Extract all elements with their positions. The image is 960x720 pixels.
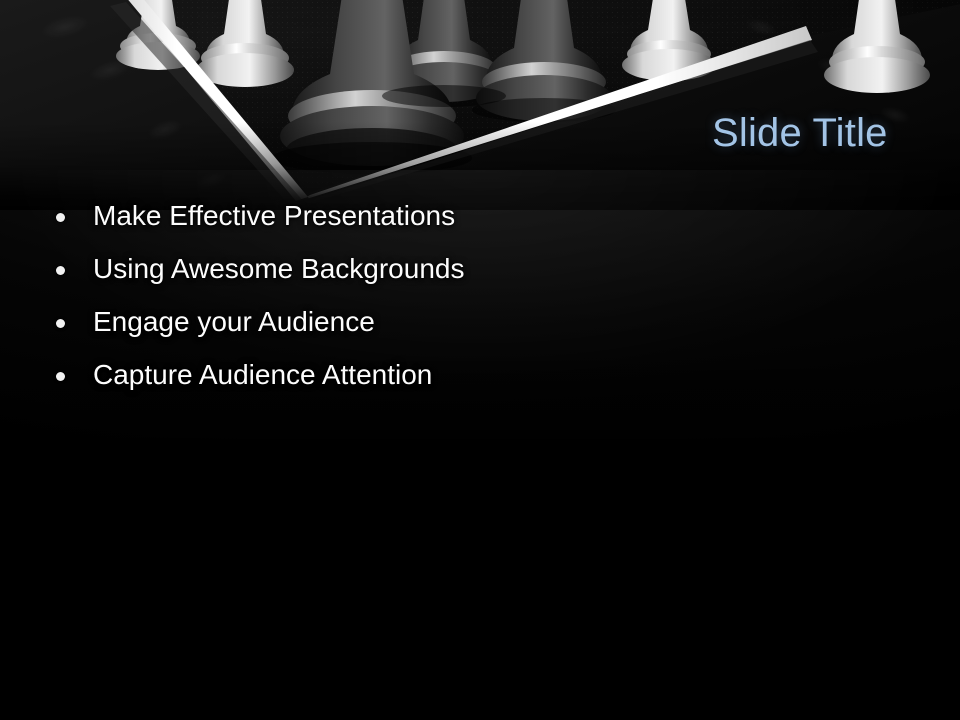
list-item-label: Capture Audience Attention <box>93 357 432 393</box>
list-item: Using Awesome Backgrounds <box>56 251 756 304</box>
list-item: Make Effective Presentations <box>56 198 756 251</box>
bullet-dot-icon <box>56 372 65 381</box>
list-item-label: Using Awesome Backgrounds <box>93 251 464 287</box>
page-title: Slide Title <box>712 112 888 155</box>
presentation-slide: Slide Title Make Effective Presentations… <box>0 0 960 720</box>
bullet-dot-icon <box>56 266 65 275</box>
bullet-dot-icon <box>56 213 65 222</box>
list-item: Capture Audience Attention <box>56 357 756 410</box>
bullet-list: Make Effective Presentations Using Aweso… <box>56 198 756 410</box>
bullet-dot-icon <box>56 319 65 328</box>
list-item-label: Engage your Audience <box>93 304 375 340</box>
list-item: Engage your Audience <box>56 304 756 357</box>
list-item-label: Make Effective Presentations <box>93 198 455 234</box>
